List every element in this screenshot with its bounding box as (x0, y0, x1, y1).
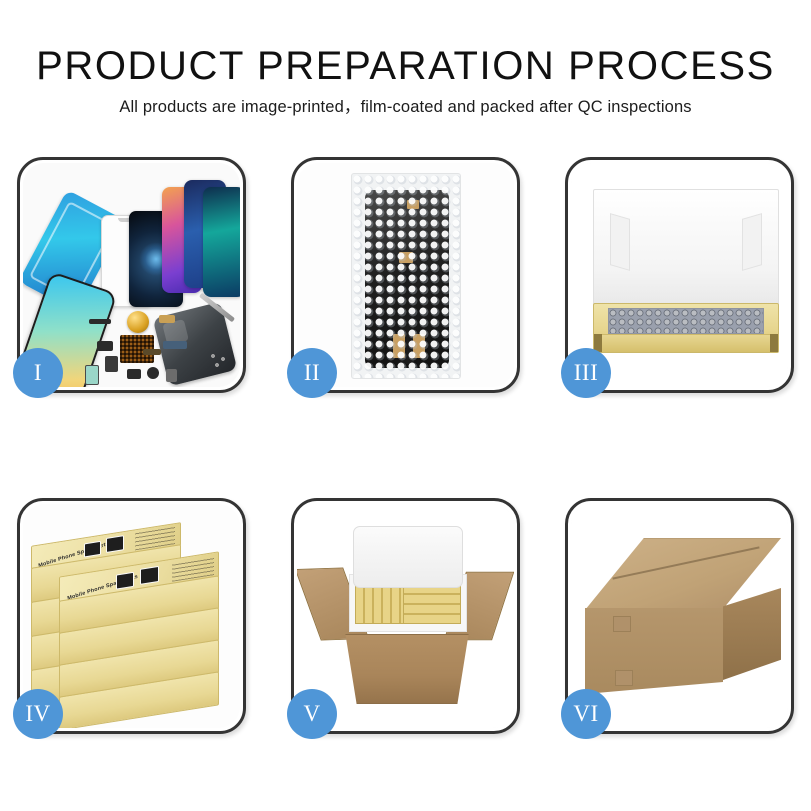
foam-carton-image (297, 504, 514, 728)
carton-body-icon (337, 634, 477, 704)
process-step-card-4[interactable]: Mobile Phone Spare Parts Mobile Phone Sp… (17, 498, 246, 734)
small-part-icon (147, 367, 159, 379)
page-title: PRODUCT PREPARATION PROCESS (0, 44, 811, 88)
step-6-photo (571, 504, 788, 728)
battery-part-icon (85, 365, 99, 385)
open-inner-box-image (571, 163, 788, 387)
bubble-texture-overlay (352, 174, 460, 378)
step-badge-5: V (287, 689, 337, 739)
box-screen-thumbnail (106, 535, 124, 553)
box-screen-thumbnail (84, 541, 101, 558)
carton-front-face (585, 608, 723, 694)
step-2-photo (297, 163, 514, 387)
page-subtitle: All products are image-printed，film-coat… (0, 97, 811, 117)
process-step-card-6[interactable]: VI (565, 498, 794, 734)
process-step-card-3[interactable]: III (565, 157, 794, 393)
bubble-wrapped-contents-icon (608, 308, 764, 334)
tray-front-panel (594, 334, 778, 352)
small-part-icon (127, 369, 141, 379)
carton-tape-patch-icon (615, 670, 633, 686)
tray-corner-right (770, 334, 778, 352)
lid-flap-right-icon (742, 213, 762, 271)
foam-box-lid-icon (353, 526, 463, 588)
step-badge-1: I (13, 348, 63, 398)
step-5-photo (297, 504, 514, 728)
small-part-icon (105, 356, 118, 372)
lid-flap-left-icon (610, 213, 630, 271)
carton-tape-patch-icon (613, 616, 631, 632)
teal-phone-icon (203, 187, 240, 297)
spare-parts-collage-image (23, 163, 240, 387)
screws-icon (210, 353, 230, 369)
small-part-icon (159, 315, 175, 323)
product-preparation-process-page: PRODUCT PREPARATION PROCESS All products… (0, 0, 811, 811)
small-part-icon (97, 341, 113, 351)
step-badge-2: II (287, 348, 337, 398)
process-step-grid: I II (17, 157, 794, 734)
small-part-icon (89, 319, 111, 324)
bubble-wrap-bag-icon (351, 173, 461, 379)
sealed-carton-image (571, 504, 788, 728)
flex-cable-part-icon (163, 341, 187, 349)
header: PRODUCT PREPARATION PROCESS All products… (0, 44, 811, 117)
process-step-card-2[interactable]: II (291, 157, 520, 393)
box-screen-thumbnail (140, 566, 159, 585)
carton-side-face (723, 588, 781, 680)
kraft-tray-icon (593, 303, 779, 353)
stacked-boxes-image: Mobile Phone Spare Parts Mobile Phone Sp… (23, 504, 240, 728)
bubble-wrapped-screen-image (297, 163, 514, 387)
step-badge-6: VI (561, 689, 611, 739)
white-box-lid-icon (593, 189, 779, 305)
box-screen-thumbnail (116, 572, 134, 590)
step-1-photo (23, 163, 240, 387)
step-badge-4: IV (13, 689, 63, 739)
small-part-icon (143, 349, 161, 355)
gold-coil-part-icon (127, 311, 149, 333)
small-part-icon (166, 369, 177, 382)
process-step-card-5[interactable]: V (291, 498, 520, 734)
process-step-card-1[interactable]: I (17, 157, 246, 393)
step-3-photo (571, 163, 788, 387)
step-badge-3: III (561, 348, 611, 398)
step-4-photo: Mobile Phone Spare Parts Mobile Phone Sp… (23, 504, 240, 728)
